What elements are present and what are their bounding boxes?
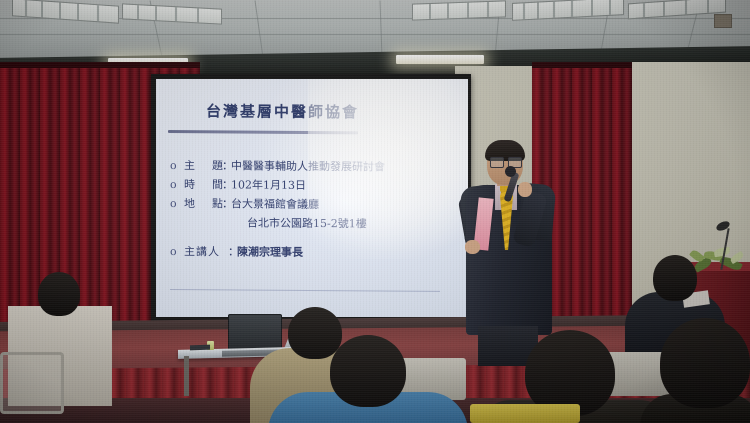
slide-row-value: 台大景福館會議廳	[231, 194, 319, 214]
ceiling-light-panel	[122, 3, 222, 24]
slide-row-speaker: o 主講人 ： 陳潮宗理事長	[170, 242, 468, 263]
slide-speaker-name: 陳潮宗理事長	[237, 242, 303, 261]
presenter-left-hand	[465, 240, 480, 254]
glasses-icon	[490, 157, 504, 168]
slide-title-rule	[168, 130, 358, 134]
audience-member-head	[660, 318, 750, 408]
slide-bullet: o	[170, 156, 184, 175]
slide-row-colon: ：	[222, 175, 231, 194]
table-leg	[184, 356, 189, 396]
slide-bullet: o	[170, 194, 184, 213]
table-object	[190, 345, 210, 351]
chair	[0, 352, 64, 414]
slide-title: 台灣基層中醫師協會	[206, 100, 456, 123]
audience-member-head	[38, 272, 80, 316]
slide-row-label: 主 題	[184, 156, 222, 175]
presentation-slide: 台灣基層中醫師協會 o 主 題 ： 中醫醫事輔助人推動發展研討會 o 時 間 ：…	[156, 79, 468, 317]
ceiling-light-panel	[628, 0, 726, 19]
presenter-right-hand	[518, 182, 532, 197]
slide-row-label: 主講人	[184, 242, 228, 261]
slide-row-value: 102年1月13日	[231, 175, 306, 195]
slide-bottom-rule	[170, 289, 440, 292]
photo-scene: 台灣基層中醫師協會 o 主 題 ： 中醫醫事輔助人推動發展研討會 o 時 間 ：…	[0, 0, 750, 423]
slide-row-location: o 地 點 ： 台大景福館會議廳	[170, 194, 468, 215]
strip-light	[396, 55, 484, 64]
slide-body: o 主 題 ： 中醫醫事輔助人推動發展研討會 o 時 間 ： 102年1月13日…	[170, 156, 468, 263]
slide-bullet: o	[170, 175, 184, 194]
slide-address-line: 台北市公園路15-2號1樓	[170, 213, 468, 234]
audience-member-head	[653, 255, 697, 301]
slide-row-label: 時 間	[184, 175, 222, 194]
slide-row-colon: ：	[222, 194, 231, 213]
slide-row-topic: o 主 題 ： 中醫醫事輔助人推動發展研討會	[170, 156, 468, 177]
slide-row-time: o 時 間 ： 102年1月13日	[170, 175, 468, 196]
ceiling-vent	[714, 14, 732, 28]
audience-member-head	[330, 335, 406, 407]
slide-row-colon: ：	[228, 242, 237, 261]
slide-bullet: o	[170, 242, 184, 261]
ceiling-light-panel	[12, 0, 119, 24]
chair-seat	[470, 404, 580, 423]
slide-row-value: 中醫醫事輔助人推動發展研討會	[231, 156, 385, 176]
flower-arrangement	[690, 246, 746, 278]
slide-row-label: 地 點	[184, 194, 222, 213]
ceiling-light-panel	[412, 0, 506, 20]
projection-screen: 台灣基層中醫師協會 o 主 題 ： 中醫醫事輔助人推動發展研討會 o 時 間 ：…	[156, 79, 468, 317]
slide-row-colon: ：	[222, 156, 231, 175]
microphone-head-icon	[505, 166, 516, 177]
audience-member-head	[288, 307, 342, 359]
